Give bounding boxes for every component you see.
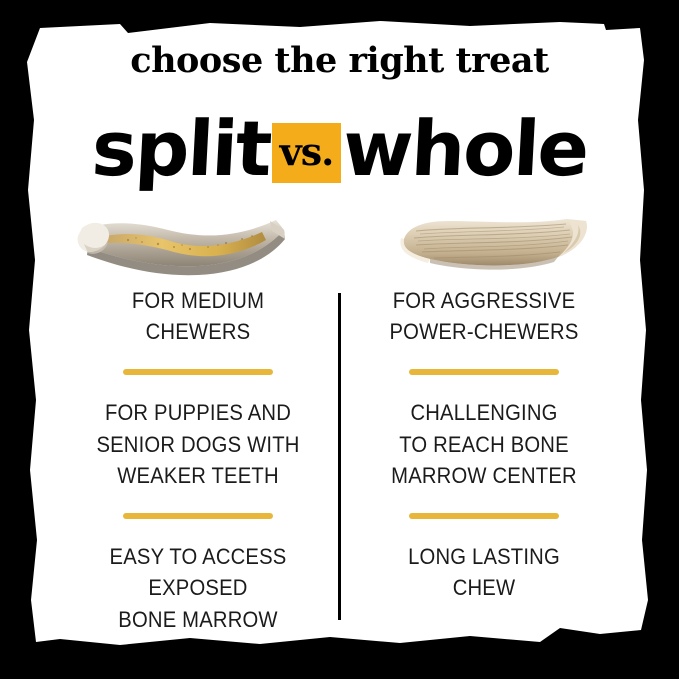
gold-divider	[123, 369, 273, 375]
feature-item: CHALLENGING TO REACH BONE MARROW CENTER	[361, 397, 608, 491]
column-split: FOR MEDIUM CHEWERS FOR PUPPIES AND SENIO…	[64, 285, 332, 635]
feature-item: FOR PUPPIES AND SENIOR DOGS WITH WEAKER …	[75, 397, 322, 491]
feature-item: EASY TO ACCESS EXPOSED BONE MARROW	[75, 541, 322, 635]
feature-item: LONG LASTING CHEW	[361, 541, 608, 603]
column-divider	[338, 293, 341, 620]
title-word-split: split	[90, 113, 272, 186]
whole-antler-image	[390, 205, 620, 290]
feature-item: FOR AGGRESSIVE POWER-CHEWERS	[361, 285, 608, 347]
gold-divider	[409, 513, 559, 519]
versus-badge: vs.	[272, 123, 342, 183]
page-kicker: choose the right treat	[0, 40, 679, 81]
gold-divider	[409, 369, 559, 375]
page-title: split vs. whole	[0, 103, 679, 195]
title-word-whole: whole	[341, 113, 589, 186]
feature-item: FOR MEDIUM CHEWERS	[75, 285, 322, 347]
infographic-poster: choose the right treat split vs. whole	[0, 0, 679, 679]
gold-divider	[123, 513, 273, 519]
split-antler-image	[70, 208, 300, 293]
column-whole: FOR AGGRESSIVE POWER-CHEWERS CHALLENGING…	[350, 285, 618, 604]
